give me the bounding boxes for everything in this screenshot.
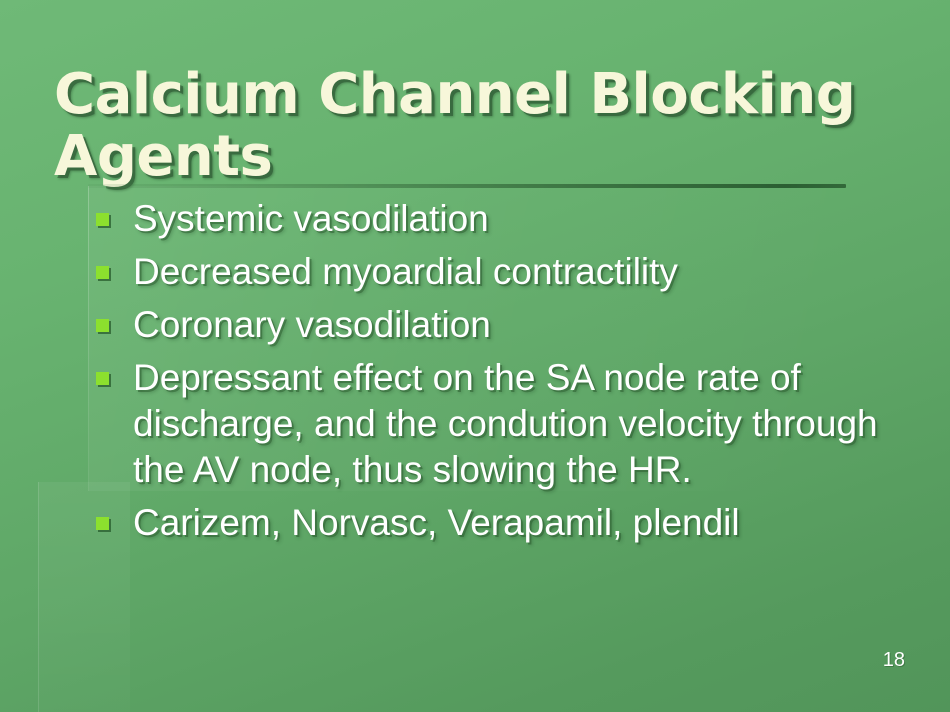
title-divider-line <box>88 184 846 188</box>
list-item: Carizem, Norvasc, Verapamil, plendil <box>96 500 916 546</box>
square-bullet-icon <box>96 266 109 279</box>
list-item: Systemic vasodilation <box>96 196 916 242</box>
list-item: Depressant effect on the SA node rate of… <box>96 355 916 493</box>
background-panel-upper-edge <box>88 186 89 491</box>
presentation-slide: Calcium Channel Blocking Agents Systemic… <box>0 0 950 712</box>
bullet-text: Decreased myoardial contractility <box>133 249 916 295</box>
bullet-text: Coronary vasodilation <box>133 302 916 348</box>
square-bullet-icon <box>96 213 109 226</box>
background-panel-lower-edge <box>38 482 39 712</box>
square-bullet-icon <box>96 517 109 530</box>
bullet-text: Systemic vasodilation <box>133 196 916 242</box>
bullet-text: Depressant effect on the SA node rate of… <box>133 355 916 493</box>
bullet-text: Carizem, Norvasc, Verapamil, plendil <box>133 500 916 546</box>
square-bullet-icon <box>96 372 109 385</box>
square-bullet-icon <box>96 319 109 332</box>
list-item: Decreased myoardial contractility <box>96 249 916 295</box>
slide-title: Calcium Channel Blocking Agents <box>54 64 914 188</box>
slide-number: 18 <box>883 650 905 670</box>
list-item: Coronary vasodilation <box>96 302 916 348</box>
bullet-list: Systemic vasodilation Decreased myoardia… <box>96 196 916 553</box>
